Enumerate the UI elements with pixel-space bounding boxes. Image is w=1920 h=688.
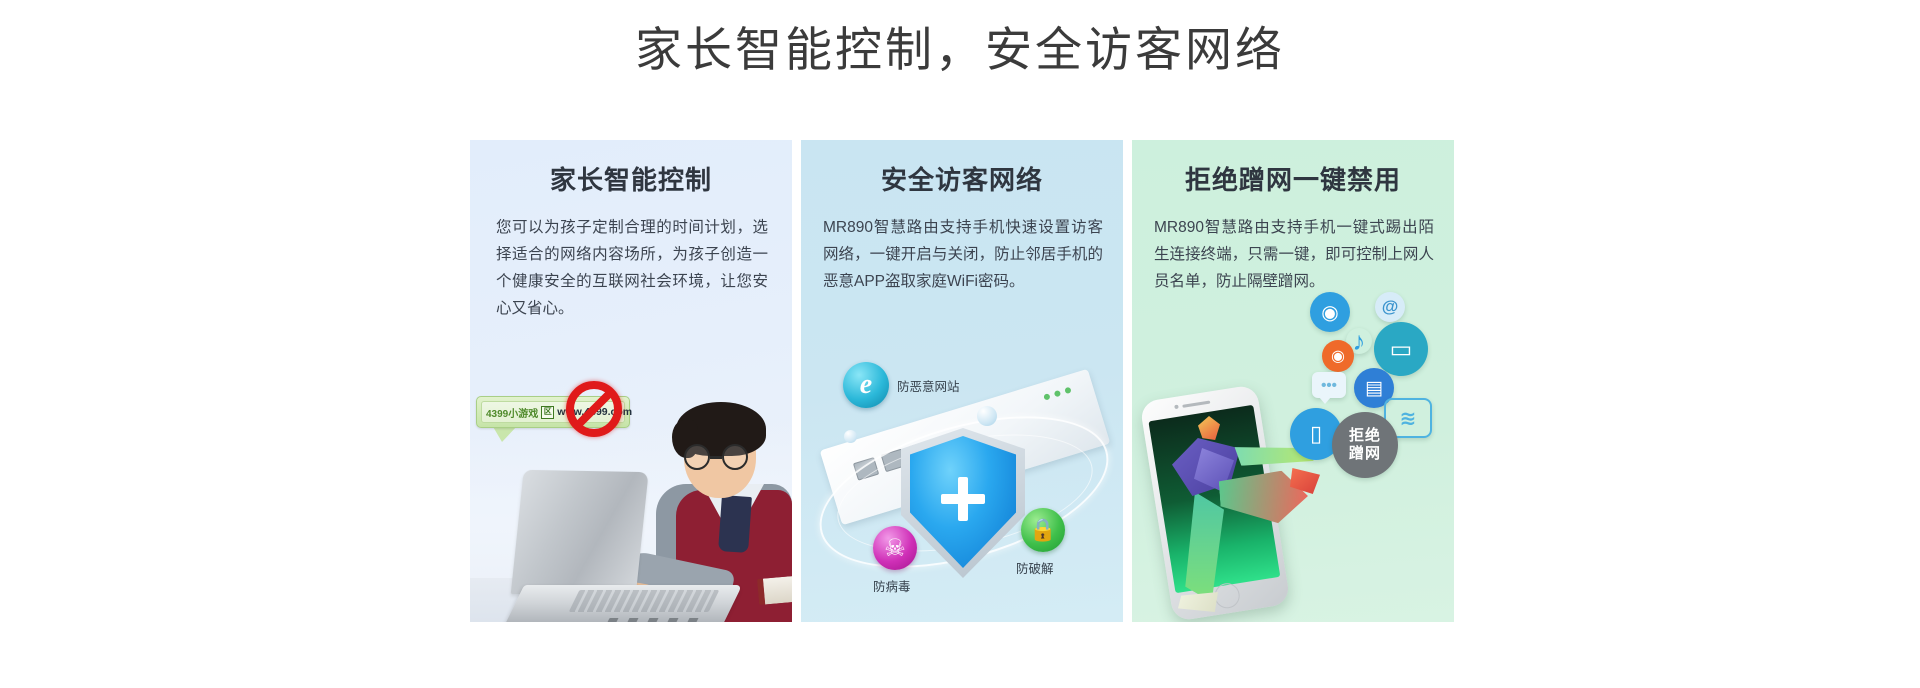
bubble-decoration-small	[844, 430, 857, 443]
illustration-security-shield: Internet Router e 防恶意网站 ☠ 防病毒 🔒 防破解	[801, 140, 1123, 622]
reject-badge-line1: 拒绝	[1349, 427, 1381, 445]
badge-label-anti-virus: 防病毒	[873, 576, 911, 595]
feature-card-parental-control: 家长智能控制 您可以为孩子定制合理的时间计划，选择适合的网络内容场所，为孩子创造…	[470, 140, 792, 622]
phone-speaker	[1182, 401, 1210, 408]
illustration-child-at-laptop: 4399小游戏 区 www.4399.com	[470, 140, 792, 622]
reject-badge-line2: 蹭网	[1349, 445, 1381, 463]
illustration-kick-out-devices: ◉ @ ♪ ▭ ◉ ▤ ••• ▯ ≋ 拒绝 蹭网	[1132, 140, 1454, 622]
feature-card-block-freeloaders: 拒绝蹭网一键禁用 MR890智慧路由支持手机一键式踢出陌生连接终端，只需一键，即…	[1132, 140, 1454, 622]
book-prop	[757, 575, 792, 605]
bubble-decoration-large	[977, 406, 997, 426]
site-badge-icon: 区	[541, 406, 554, 419]
signal-tower-icon: ◉	[1310, 292, 1350, 332]
router-leds	[1043, 387, 1072, 401]
glasses-icon	[682, 444, 764, 470]
reject-freeloader-badge: 拒绝 蹭网	[1332, 412, 1398, 478]
prohibition-sign-icon	[566, 381, 622, 437]
laptop-wifi-icon: ▭	[1374, 322, 1428, 376]
promo-page: 家长智能控制，安全访客网络 家长智能控制 您可以为孩子定制合理的时间计划，选择适…	[0, 0, 1920, 688]
game-controller-icon: ◉	[1322, 340, 1354, 372]
badge-label-anti-crack: 防破解	[1016, 558, 1054, 577]
child-tie	[718, 495, 752, 553]
lock-key-icon: 🔒	[1021, 508, 1065, 552]
chat-bubble-icon: •••	[1312, 372, 1346, 398]
laptop-lid	[511, 470, 649, 594]
phone-camera	[1174, 405, 1179, 410]
badge-label-anti-malicious-site: 防恶意网站	[897, 376, 960, 395]
laptop-keyboard	[569, 590, 720, 612]
feature-card-guest-network: 安全访客网络 MR890智慧路由支持手机快速设置访客网络，一键开启与关闭，防止邻…	[801, 140, 1123, 622]
shield-plus-icon	[941, 477, 985, 521]
site-name-label: 4399小游戏	[486, 405, 538, 420]
skull-icon: ☠	[873, 526, 917, 570]
page-title: 家长智能控制，安全访客网络	[0, 16, 1920, 84]
ie-browser-icon: e	[843, 362, 889, 408]
laptop-ports	[607, 618, 702, 622]
bottom-divider	[0, 648, 1920, 649]
feature-card-row: 家长智能控制 您可以为孩子定制合理的时间计划，选择适合的网络内容场所，为孩子创造…	[470, 140, 1452, 622]
at-sign-icon: @	[1375, 292, 1405, 322]
